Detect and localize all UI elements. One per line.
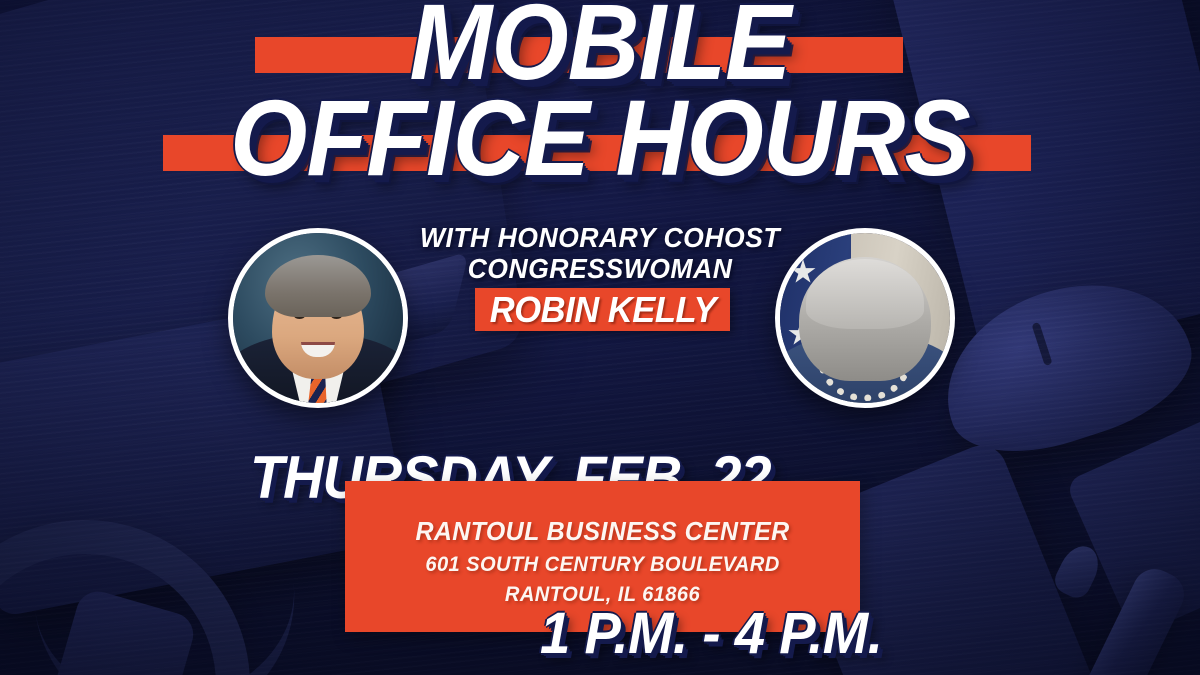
event-flyer: MOBILE OFFICE HOURS WITH HONORARY COHOST…	[0, 0, 1200, 675]
venue-name: RANTOUL BUSINESS CENTER	[355, 516, 849, 547]
venue-info-text: RANTOUL BUSINESS CENTER 601 SOUTH CENTUR…	[345, 516, 860, 607]
subtitle-line-2: CONGRESSWOMAN	[30, 253, 1170, 284]
venue-street-address: 601 SOUTH CENTURY BOULEVARD	[355, 553, 849, 577]
host-headshot-avatar	[228, 228, 408, 408]
guest-name-label: ROBIN KELLY	[489, 289, 715, 331]
subtitle-line-1: WITH HONORARY COHOST	[30, 222, 1170, 253]
subtitle-block: WITH HONORARY COHOST CONGRESSWOMAN	[0, 222, 1200, 285]
guest-name-banner: ROBIN KELLY	[475, 288, 730, 331]
robin-kelly-headshot-avatar	[775, 228, 955, 408]
headline-line-2: OFFICE HOURS	[48, 88, 1152, 187]
host-smile	[301, 342, 335, 357]
event-time: 1 P.M. - 4 P.M.	[540, 600, 882, 667]
